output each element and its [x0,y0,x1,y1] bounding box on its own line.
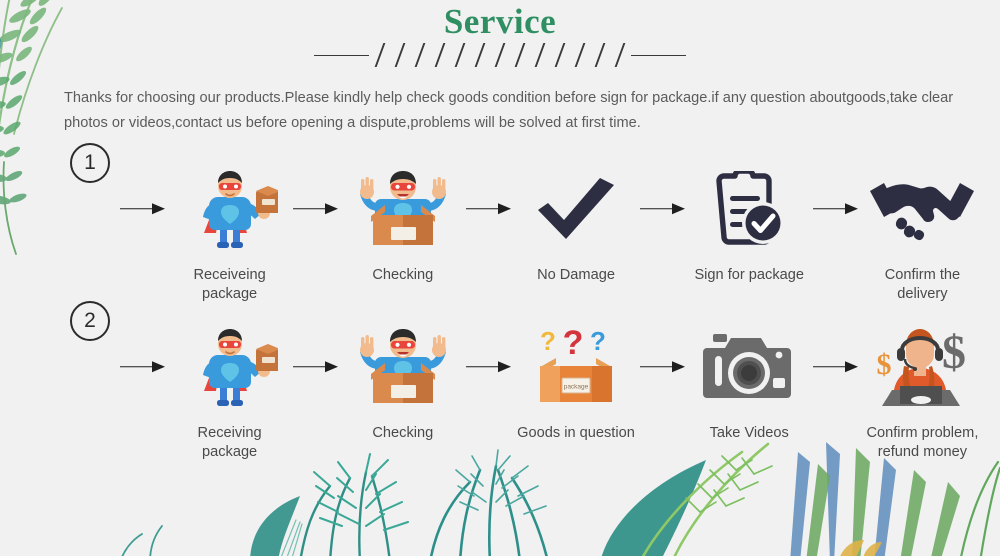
flow-step-label: Checking [372,424,433,443]
flow-step: No Damage [514,168,637,285]
arrow-right-icon [464,326,514,408]
flow-step: Take Videos [688,326,811,443]
arrow-right-icon [811,168,861,250]
arrow-right-icon [291,168,341,250]
arrow-right-icon [291,326,341,408]
flow-step: $ $ Confirm pr [861,326,984,462]
service-info-banner: Service Thanks for choosing our products… [0,0,1000,556]
checkmark-icon [534,168,618,250]
flow-step-label: No Damage [537,266,615,285]
divider-slash [475,43,486,67]
flow-step-label: Receiving package [168,424,291,462]
box-question-marks-icon: ? ? ? package [528,326,624,408]
flow-row-1: Receiveing package [118,168,984,304]
svg-text:?: ? [540,326,556,356]
svg-text:$: $ [942,326,966,379]
flow-step: Checking [341,326,464,443]
hero-holding-package-icon [182,326,278,408]
divider-slash [535,43,546,67]
divider-slash [555,43,566,67]
step-number-badge-2: 2 [70,301,110,341]
divider-slash [495,43,506,67]
flow-step-label: Receiveing package [168,266,291,304]
divider-slash [375,43,386,67]
divider-slash [615,43,626,67]
hero-in-open-box-icon [357,326,449,408]
divider-slash [595,43,606,67]
arrow-right-icon [811,326,861,408]
divider-slash [455,43,466,67]
page-title: Service [0,2,1000,42]
flow-step: Receiving package [168,326,291,462]
svg-text:?: ? [563,326,584,362]
divider-slash [435,43,446,67]
divider-line-right [631,55,686,56]
divider-slash [415,43,426,67]
flow-step: Receiveing package [168,168,291,304]
divider-slash [575,43,586,67]
svg-text:$: $ [877,348,892,381]
divider-line-left [314,55,369,56]
arrow-right-icon [638,168,688,250]
flow-step-label: Confirm problem, refund money [866,424,978,462]
support-agent-dollar-icon: $ $ [870,326,974,408]
flow-row-2: Receiving package [118,326,984,462]
flow-step-label: Sign for package [694,266,804,285]
flow-step-label: Checking [372,266,433,285]
intro-paragraph: Thanks for choosing our products.Please … [64,86,954,136]
flow-step: Confirm the delivery [861,168,984,304]
flow-step: Checking [341,168,464,285]
step-number-badge-1: 1 [70,143,110,183]
arrow-right-icon [464,168,514,250]
handshake-icon [868,168,976,250]
header-divider [0,42,1000,68]
flow-step-label: Take Videos [710,424,789,443]
divider-slash [395,43,406,67]
arrow-right-icon [118,168,168,250]
camera-icon [703,326,795,408]
hero-in-open-box-icon [357,168,449,250]
flow-step: Sign for package [688,168,811,285]
arrow-right-icon [638,326,688,408]
flow-step-label: Goods in question [517,424,635,443]
divider-slash-group [379,43,621,67]
hero-holding-package-icon [182,168,278,250]
svg-text:?: ? [590,326,606,356]
box-label-text: package [564,384,589,391]
clipboard-check-icon [713,168,785,250]
flow-step-label: Confirm the delivery [861,266,984,304]
arrow-right-icon [118,326,168,408]
divider-slash [515,43,526,67]
flow-step: ? ? ? package Goods in question [514,326,637,443]
